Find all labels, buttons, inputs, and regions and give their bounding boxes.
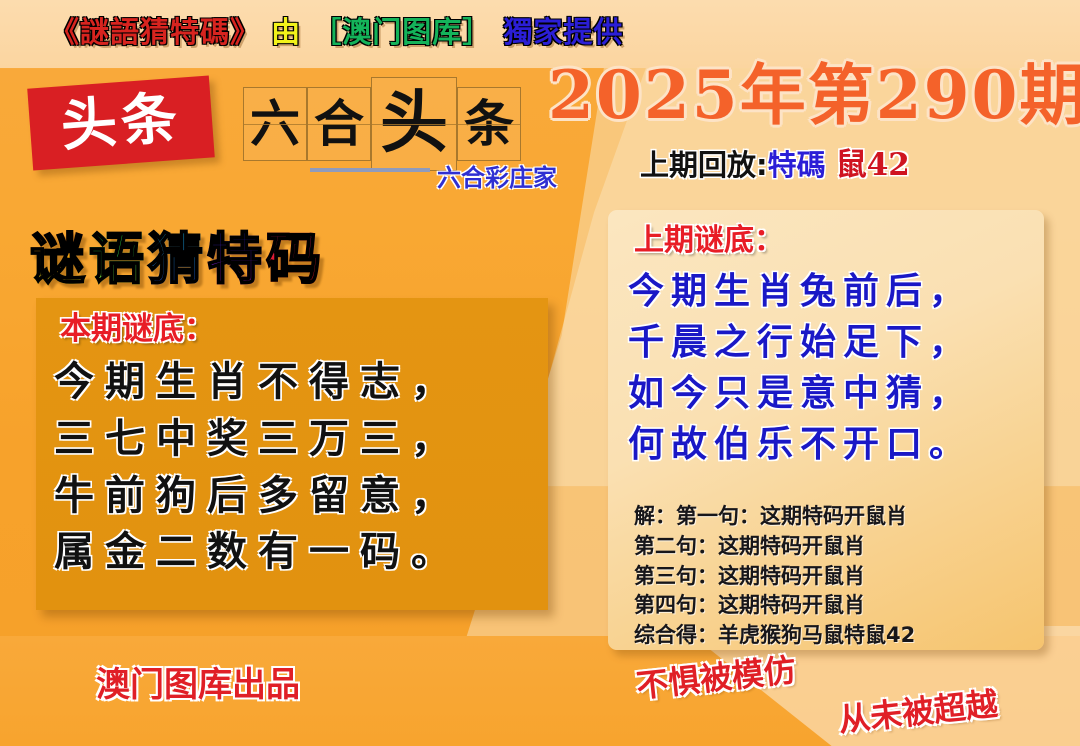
brand-tile: 合 [307,87,371,161]
previous-riddle-note: 第二句：这期特码开鼠肖 [634,532,1034,562]
previous-riddle-note: 第四句：这期特码开鼠肖 [634,591,1034,621]
brand-tiles: 六 合 头 条 [243,78,521,170]
riddle-title-char: 码 [266,232,321,287]
current-riddle-line: 牛前狗后多留意， [54,468,540,525]
footer-publisher: 澳门图库出品 [96,668,300,702]
poster-root: 《謎語猜特碼》 由 ［澳门图库］ 獨家提供 头条 六 合 头 条 六合彩庄家 2… [0,0,1080,746]
current-riddle-line: 属金二数有一码。 [54,524,540,581]
header-line: 《謎語猜特碼》 由 ［澳门图库］ 獨家提供 [50,18,623,47]
riddle-title-char: 特 [207,232,262,287]
header-part-source: ［澳门图库］ [312,18,492,47]
previous-riddle-line: 如今只是意中猜， [628,368,1038,419]
riddle-title-char: 语 [89,232,144,287]
riddle-section-title: 谜语猜特码 [30,232,325,287]
riddle-title-char: 猜 [148,232,203,287]
current-riddle-lines: 今期生肖不得志， 三七中奖三万三， 牛前狗后多留意， 属金二数有一码。 [54,354,540,581]
recall-label: 上期回放: [640,148,768,182]
issue-title: 2025年第290期 [548,62,1080,128]
recall-value: 鼠42 [836,147,910,183]
previous-riddle-note: 解：第一句：这期特码开鼠肖 [634,502,1034,532]
brand-tile: 六 [243,87,307,161]
previous-riddle-note: 综合得：羊虎猴狗马鼠特鼠42 [634,621,1034,651]
current-riddle-panel: 本期谜底： 今期生肖不得志， 三七中奖三万三， 牛前狗后多留意， 属金二数有一码… [36,298,548,610]
brand-tagline: 六合彩庄家 [437,158,557,193]
recall-key: 特碼 [768,148,826,182]
brand-tile: 条 [457,87,521,161]
headline-badge: 头条 [27,75,215,170]
previous-riddle-lines: 今期生肖兔前后， 千晨之行始足下， 如今只是意中猜， 何故伯乐不开口。 [628,266,1038,470]
headline-badge-label: 头条 [59,91,183,156]
current-riddle-heading: 本期谜底： [60,314,215,345]
last-draw-recall: 上期回放:特碼 鼠42 [640,150,910,181]
header-part-title: 《謎語猜特碼》 [50,18,260,47]
previous-riddle-line: 千晨之行始足下， [628,317,1038,368]
riddle-title-char: 谜 [30,232,85,287]
previous-riddle-line: 何故伯乐不开口。 [628,419,1038,470]
current-riddle-line: 今期生肖不得志， [54,354,540,411]
header-part-exclusive: 獨家提供 [503,18,623,47]
previous-riddle-note: 第三句：这期特码开鼠肖 [634,562,1034,592]
brand-tile: 头 [371,77,457,171]
previous-riddle-panel: 上期谜底： 今期生肖兔前后， 千晨之行始足下， 如今只是意中猜， 何故伯乐不开口… [608,210,1044,650]
header-part-by: 由 [271,18,301,47]
current-riddle-line: 三七中奖三万三， [54,411,540,468]
brand-divider [310,168,430,172]
previous-riddle-notes: 解：第一句：这期特码开鼠肖 第二句：这期特码开鼠肖 第三句：这期特码开鼠肖 第四… [634,502,1034,651]
previous-riddle-line: 今期生肖兔前后， [628,266,1038,317]
previous-riddle-heading: 上期谜底： [634,226,784,256]
